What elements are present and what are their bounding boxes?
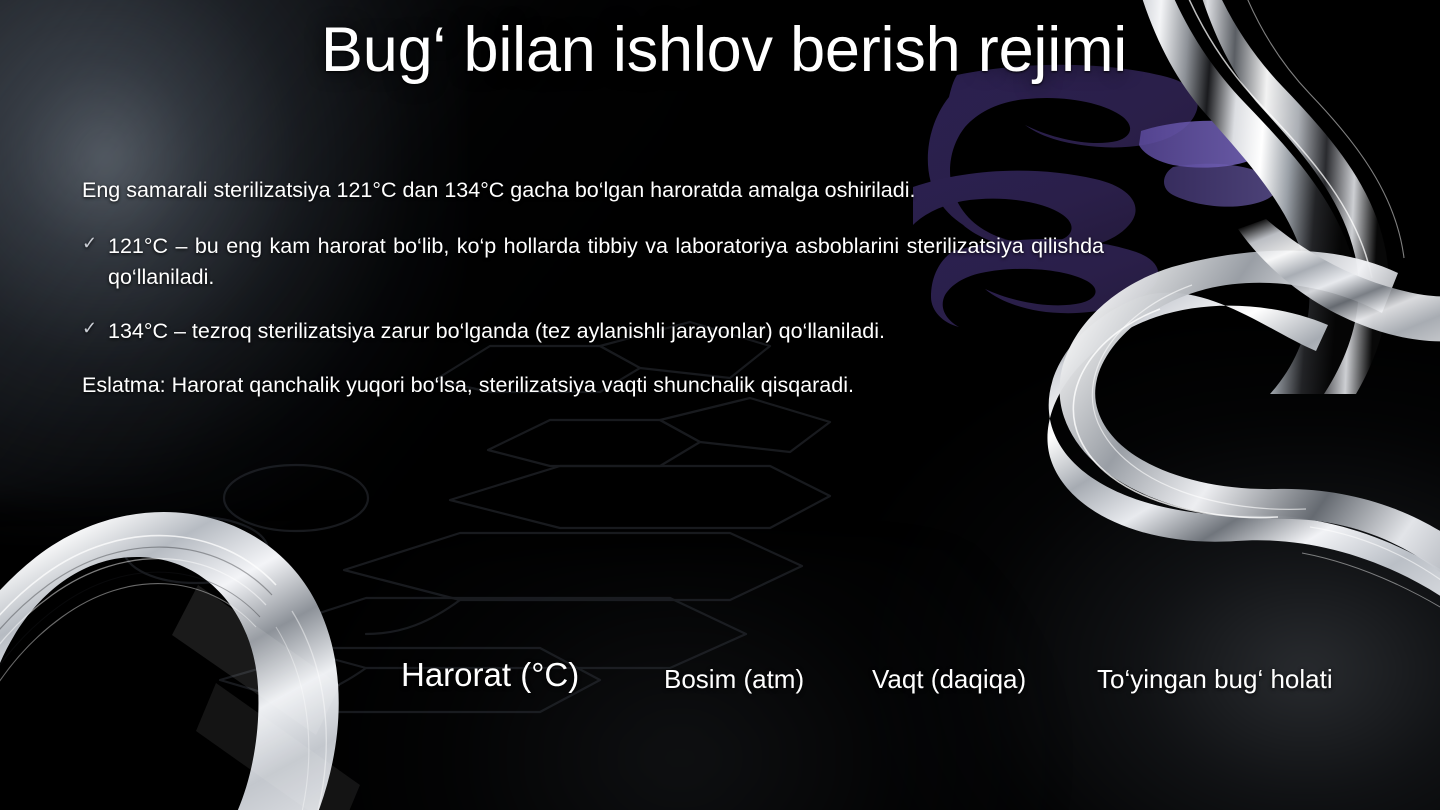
column-header-time: Vaqt (daqiqa): [872, 664, 1026, 695]
bullet-text: 121°C – bu eng kam harorat bo‘lib, ko‘p …: [108, 231, 1104, 292]
bullet-item: ✓ 121°C – bu eng kam harorat bo‘lib, ko‘…: [82, 231, 1104, 292]
checkmark-icon: ✓: [82, 231, 108, 257]
lead-paragraph: Eng samarali sterilizatsiya 121°C dan 13…: [82, 176, 1104, 205]
column-header-temperature: Harorat (°C): [401, 655, 579, 695]
slide-title: Bug‘ bilan ishlov berish rejimi: [0, 16, 1440, 85]
slide-body: Eng samarali sterilizatsiya 121°C dan 13…: [82, 176, 1104, 400]
bullet-item: ✓ 134°C – tezroq sterilizatsiya zarur bo…: [82, 316, 1104, 347]
bullet-text: 134°C – tezroq sterilizatsiya zarur bo‘l…: [108, 316, 1104, 347]
glow-bottom-right: [850, 330, 1440, 810]
column-header-steam-state: To‘yingan bug‘ holati: [1097, 664, 1333, 695]
column-header-pressure: Bosim (atm): [664, 664, 804, 695]
ribbon-bottom-left-icon: [0, 435, 420, 810]
slide-canvas: Bug‘ bilan ishlov berish rejimi Eng sama…: [0, 0, 1440, 810]
note-paragraph: Eslatma: Harorat qanchalik yuqori bo‘lsa…: [82, 371, 1104, 400]
checkmark-icon: ✓: [82, 316, 108, 342]
table-header-row: Harorat (°C) Bosim (atm) Vaqt (daqiqa) T…: [0, 655, 1440, 715]
